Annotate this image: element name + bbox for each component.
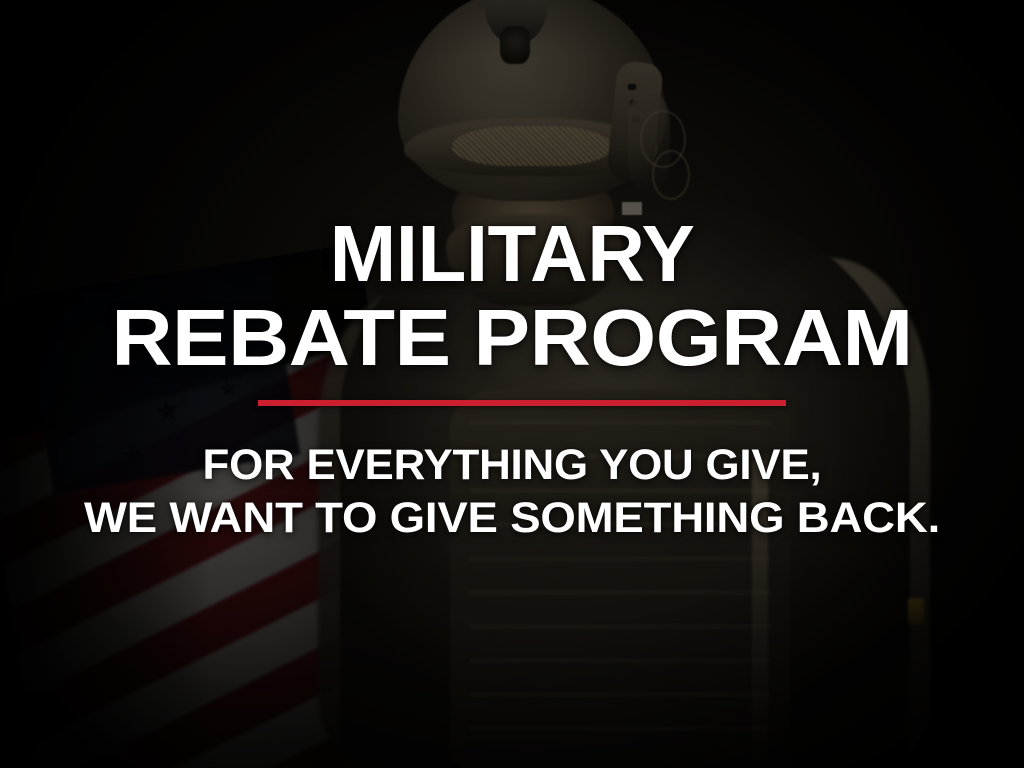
background-photo: ★ ★ ★ ★ ★ ★ ★ ★ ★: [0, 0, 1024, 768]
neck-gaiter-icon: [446, 214, 622, 306]
helmet-tag-icon: [622, 202, 642, 215]
helmet-rail-slot: [628, 84, 636, 90]
nvg-shaft-icon: [500, 26, 530, 64]
comms-cable-icon: [652, 150, 690, 200]
military-rebate-poster: ★ ★ ★ ★ ★ ★ ★ ★ ★: [0, 0, 1024, 768]
helmet-velcro-panel: [452, 126, 612, 166]
